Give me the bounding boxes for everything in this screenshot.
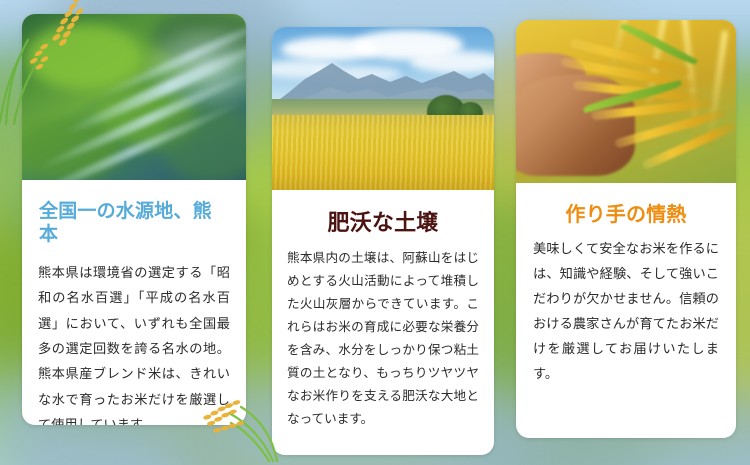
- card-text-water: 熊本県は環境省の選定する「昭和の名水百選」「平成の名水百選」において、いずれも全…: [38, 247, 230, 425]
- feature-card-list: 全国一の水源地、熊本 熊本県は環境省の選定する「昭和の名水百選」「平成の名水百選…: [0, 0, 750, 465]
- feature-card-soil[interactable]: 肥沃な土壌 熊本県内の土壌は、阿蘇山をはじめとする火山活動によって堆積した火山灰…: [272, 27, 494, 455]
- card-text-passion: 美味しくて安全なお米を作るには、知識や経験、そして強いこだわりが欠かせません。信…: [533, 227, 719, 386]
- card-body: 肥沃な土壌 熊本県内の土壌は、阿蘇山をはじめとする火山活動によって堆積した火山灰…: [272, 190, 494, 455]
- card-title-passion: 作り手の情熱: [533, 183, 719, 227]
- aso-rice-field-photo: [272, 27, 494, 190]
- card-text-soil: 熊本県内の土壌は、阿蘇山をはじめとする火山活動によって堆積した火山灰層からできて…: [287, 236, 479, 430]
- farmer-hand-rice-photo: [516, 20, 736, 183]
- card-title-soil: 肥沃な土壌: [287, 190, 479, 236]
- spring-water-photo: [22, 14, 246, 180]
- card-body: 全国一の水源地、熊本 熊本県は環境省の選定する「昭和の名水百選」「平成の名水百選…: [22, 180, 246, 425]
- card-title-water: 全国一の水源地、熊本: [39, 180, 230, 247]
- feature-card-passion[interactable]: 作り手の情熱 美味しくて安全なお米を作るには、知識や経験、そして強いこだわりが欠…: [516, 20, 736, 438]
- feature-card-water[interactable]: 全国一の水源地、熊本 熊本県は環境省の選定する「昭和の名水百選」「平成の名水百選…: [22, 14, 246, 425]
- card-body: 作り手の情熱 美味しくて安全なお米を作るには、知識や経験、そして強いこだわりが欠…: [516, 183, 736, 438]
